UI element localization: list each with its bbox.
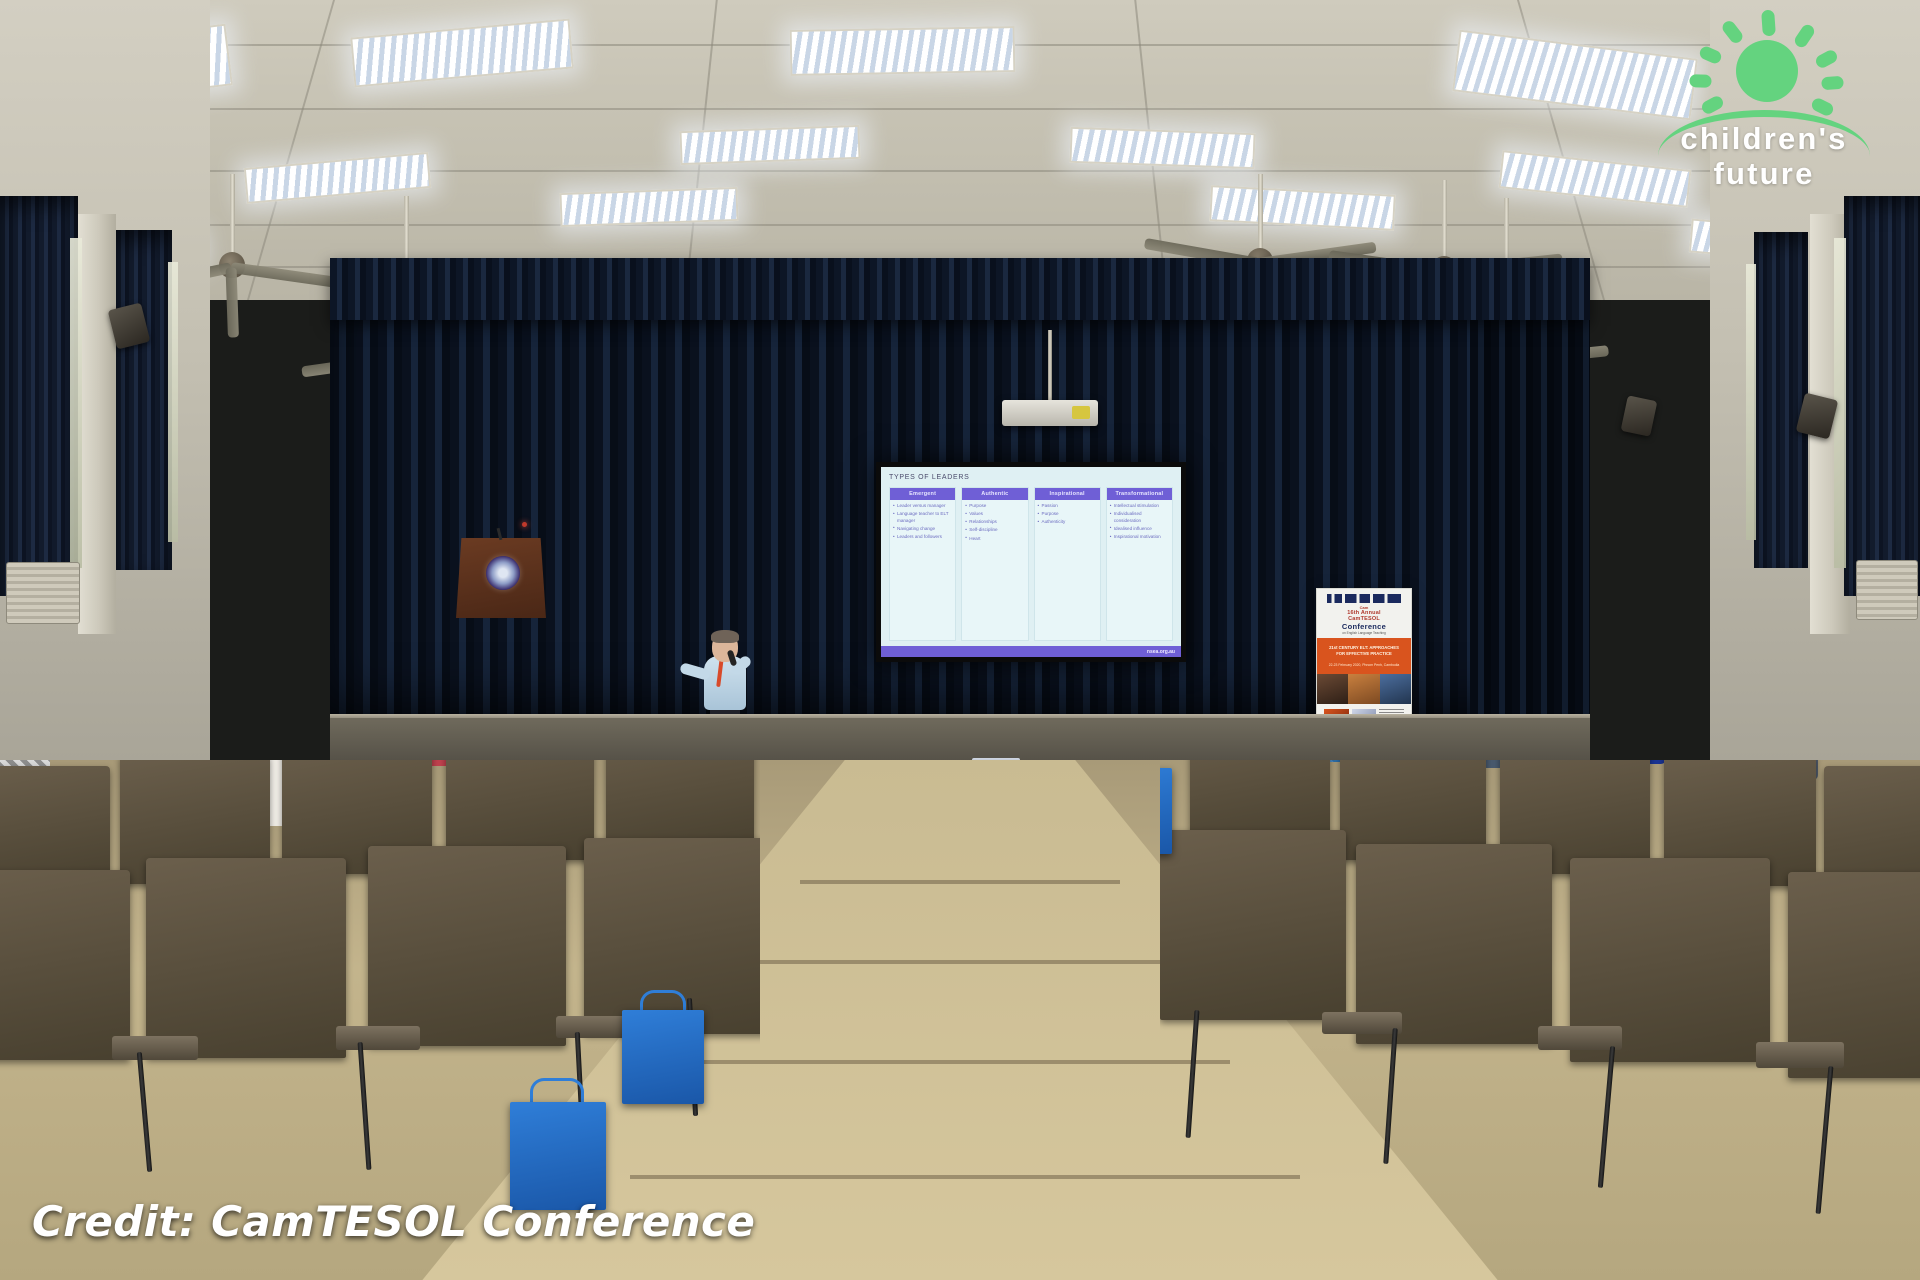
seat-leg [1598,1046,1615,1188]
bullet-item: Authenticity [1038,519,1098,526]
tote-bag [510,1102,606,1210]
bullet-item: Self-discipline [965,527,1025,534]
seat-leg [137,1052,152,1172]
aisle-step [800,880,1120,884]
bullet-item: Individualised consideration [1110,511,1170,524]
window-curtain [116,230,172,570]
slide-columns: Emergent Leader versus manager Language … [889,487,1173,641]
bullet-item: Navigating change [893,526,953,533]
bullet-item: Inspirational motivation [1110,534,1170,541]
slide-column-emergent: Emergent Leader versus manager Language … [889,487,956,641]
banner-type: Conference [1317,622,1411,631]
window-light [1746,264,1756,540]
bullet-item: Purpose [1038,511,1098,518]
slide-footer-url: nsea.org.au [881,646,1181,657]
ceiling-light-panel [679,125,860,165]
sun-ray [1698,45,1723,66]
seat-leg [358,1042,372,1170]
bullet-item: Purpose [965,503,1025,510]
aisle-step [760,960,1170,964]
sun-ray [1814,48,1840,70]
column-bullets: Purpose Values Relationships Self-discip… [962,500,1027,546]
skyline-icon [1327,594,1401,603]
banner-venue-line: 22-23 February 2020, Phnom Penh, Cambodi… [1321,663,1407,667]
sun-icon [1736,40,1798,102]
ceiling-light-panel [790,26,1016,76]
logo-line-1: children's [1644,122,1884,157]
auditorium-seat [368,846,566,1046]
projector-mount-rod [1048,330,1052,402]
bullet-item: Leaders and followers [893,534,953,541]
audience-right-section: 17 [1160,760,1920,1280]
banner-photo [1348,674,1379,704]
bullet-item: Language teacher to ELT manager [893,511,953,524]
banner-theme-block: 21st CENTURY ELT: APPROACHES FOR EFFECTI… [1317,638,1411,674]
column-heading: Authentic [962,488,1027,500]
tote-bag-handle [530,1078,584,1104]
bullet-item: Passion [1038,503,1098,510]
logo-line-2: future [1644,157,1884,192]
logo-text: children's future [1644,122,1884,191]
seat-armrest [112,1036,198,1060]
window-light [168,262,178,542]
ceiling-grid-line [0,224,1920,226]
presenter-hair [711,630,739,643]
column-bullets: Leader versus manager Language teacher t… [890,500,955,544]
auditorium-seat [146,858,346,1058]
tote-bag [622,1010,704,1104]
seat-leg [1186,1010,1200,1138]
sun-ray [1720,19,1745,46]
sun-ray [1821,76,1844,91]
sun-ray [1792,22,1816,49]
stage-curtain-right [1470,312,1590,732]
banner-theme-line2: FOR EFFECTIVE PRACTICE [1321,651,1407,657]
banner-photo [1317,674,1348,704]
slide-column-transformational: Transformational Intellectual stimulatio… [1106,487,1173,641]
column-bullets: Passion Purpose Authenticity [1035,500,1100,529]
auditorium-seat [0,766,110,886]
window-light [70,238,82,568]
window-curtain [1754,232,1808,568]
tote-bag-handle [640,990,686,1012]
wall-speaker [1621,395,1658,436]
ceiling-fan-rod [230,174,235,258]
slide-title: TYPES OF LEADERS [889,474,1173,481]
auditorium-seat [0,870,130,1060]
slide-column-authentic: Authentic Purpose Values Relationships S… [961,487,1028,641]
wall-pillar [78,214,116,634]
credit-caption: Credit: CamTESOL Conference [32,1197,755,1246]
bullet-item: Heart [965,536,1025,543]
column-heading: Transformational [1107,488,1172,500]
sun-ray [1700,94,1726,116]
bullet-item: Leader versus manager [893,503,953,510]
ceiling-fan-rod [1258,174,1263,254]
auditorium-seat [606,760,754,850]
column-heading: Inspirational [1035,488,1100,500]
presentation-slide: TYPES OF LEADERS Emergent Leader versus … [881,467,1181,657]
air-conditioner [1856,560,1918,620]
childrens-future-logo: children's future [1644,14,1884,184]
sun-ray [1689,74,1711,88]
seat-leg [1816,1066,1834,1214]
screen-surface: TYPES OF LEADERS Emergent Leader versus … [881,467,1181,657]
air-conditioner [6,562,80,624]
seat-armrest [1756,1042,1844,1068]
ceiling-light-panel [1069,127,1255,169]
projection-screen: TYPES OF LEADERS Emergent Leader versus … [876,462,1186,662]
bullet-item: Idealised influence [1110,526,1170,533]
auditorium-seat [446,760,594,860]
banner-subtitle: on English Language Teaching [1317,631,1411,635]
seat-armrest [1322,1012,1402,1034]
window-curtain [1844,196,1920,596]
ceiling-light-panel [559,187,738,227]
bullet-item: Values [965,511,1025,518]
bullet-item: Intellectual stimulation [1110,503,1170,510]
window-curtain [0,196,78,596]
banner-photo [1380,674,1411,704]
podium-indicator-light [522,522,527,527]
aisle-step [700,1060,1230,1064]
university-seal [486,556,520,590]
seat-armrest [336,1026,420,1050]
banner-photo-strip [1317,674,1411,704]
projector-lens [1072,406,1090,419]
column-heading: Emergent [890,488,955,500]
slide-column-inspirational: Inspirational Passion Purpose Authentici… [1034,487,1101,641]
bullet-item: Relationships [965,519,1025,526]
auditorium-seat [1160,830,1346,1020]
stage-valance [330,258,1590,320]
tote-bag [1160,768,1172,854]
column-bullets: Intellectual stimulation Individualised … [1107,500,1172,544]
seat-leg [1383,1028,1397,1164]
sun-ray [1761,10,1776,37]
auditorium-photo: TYPES OF LEADERS Emergent Leader versus … [0,0,1920,1280]
ceiling-fan-rod [1442,180,1447,262]
